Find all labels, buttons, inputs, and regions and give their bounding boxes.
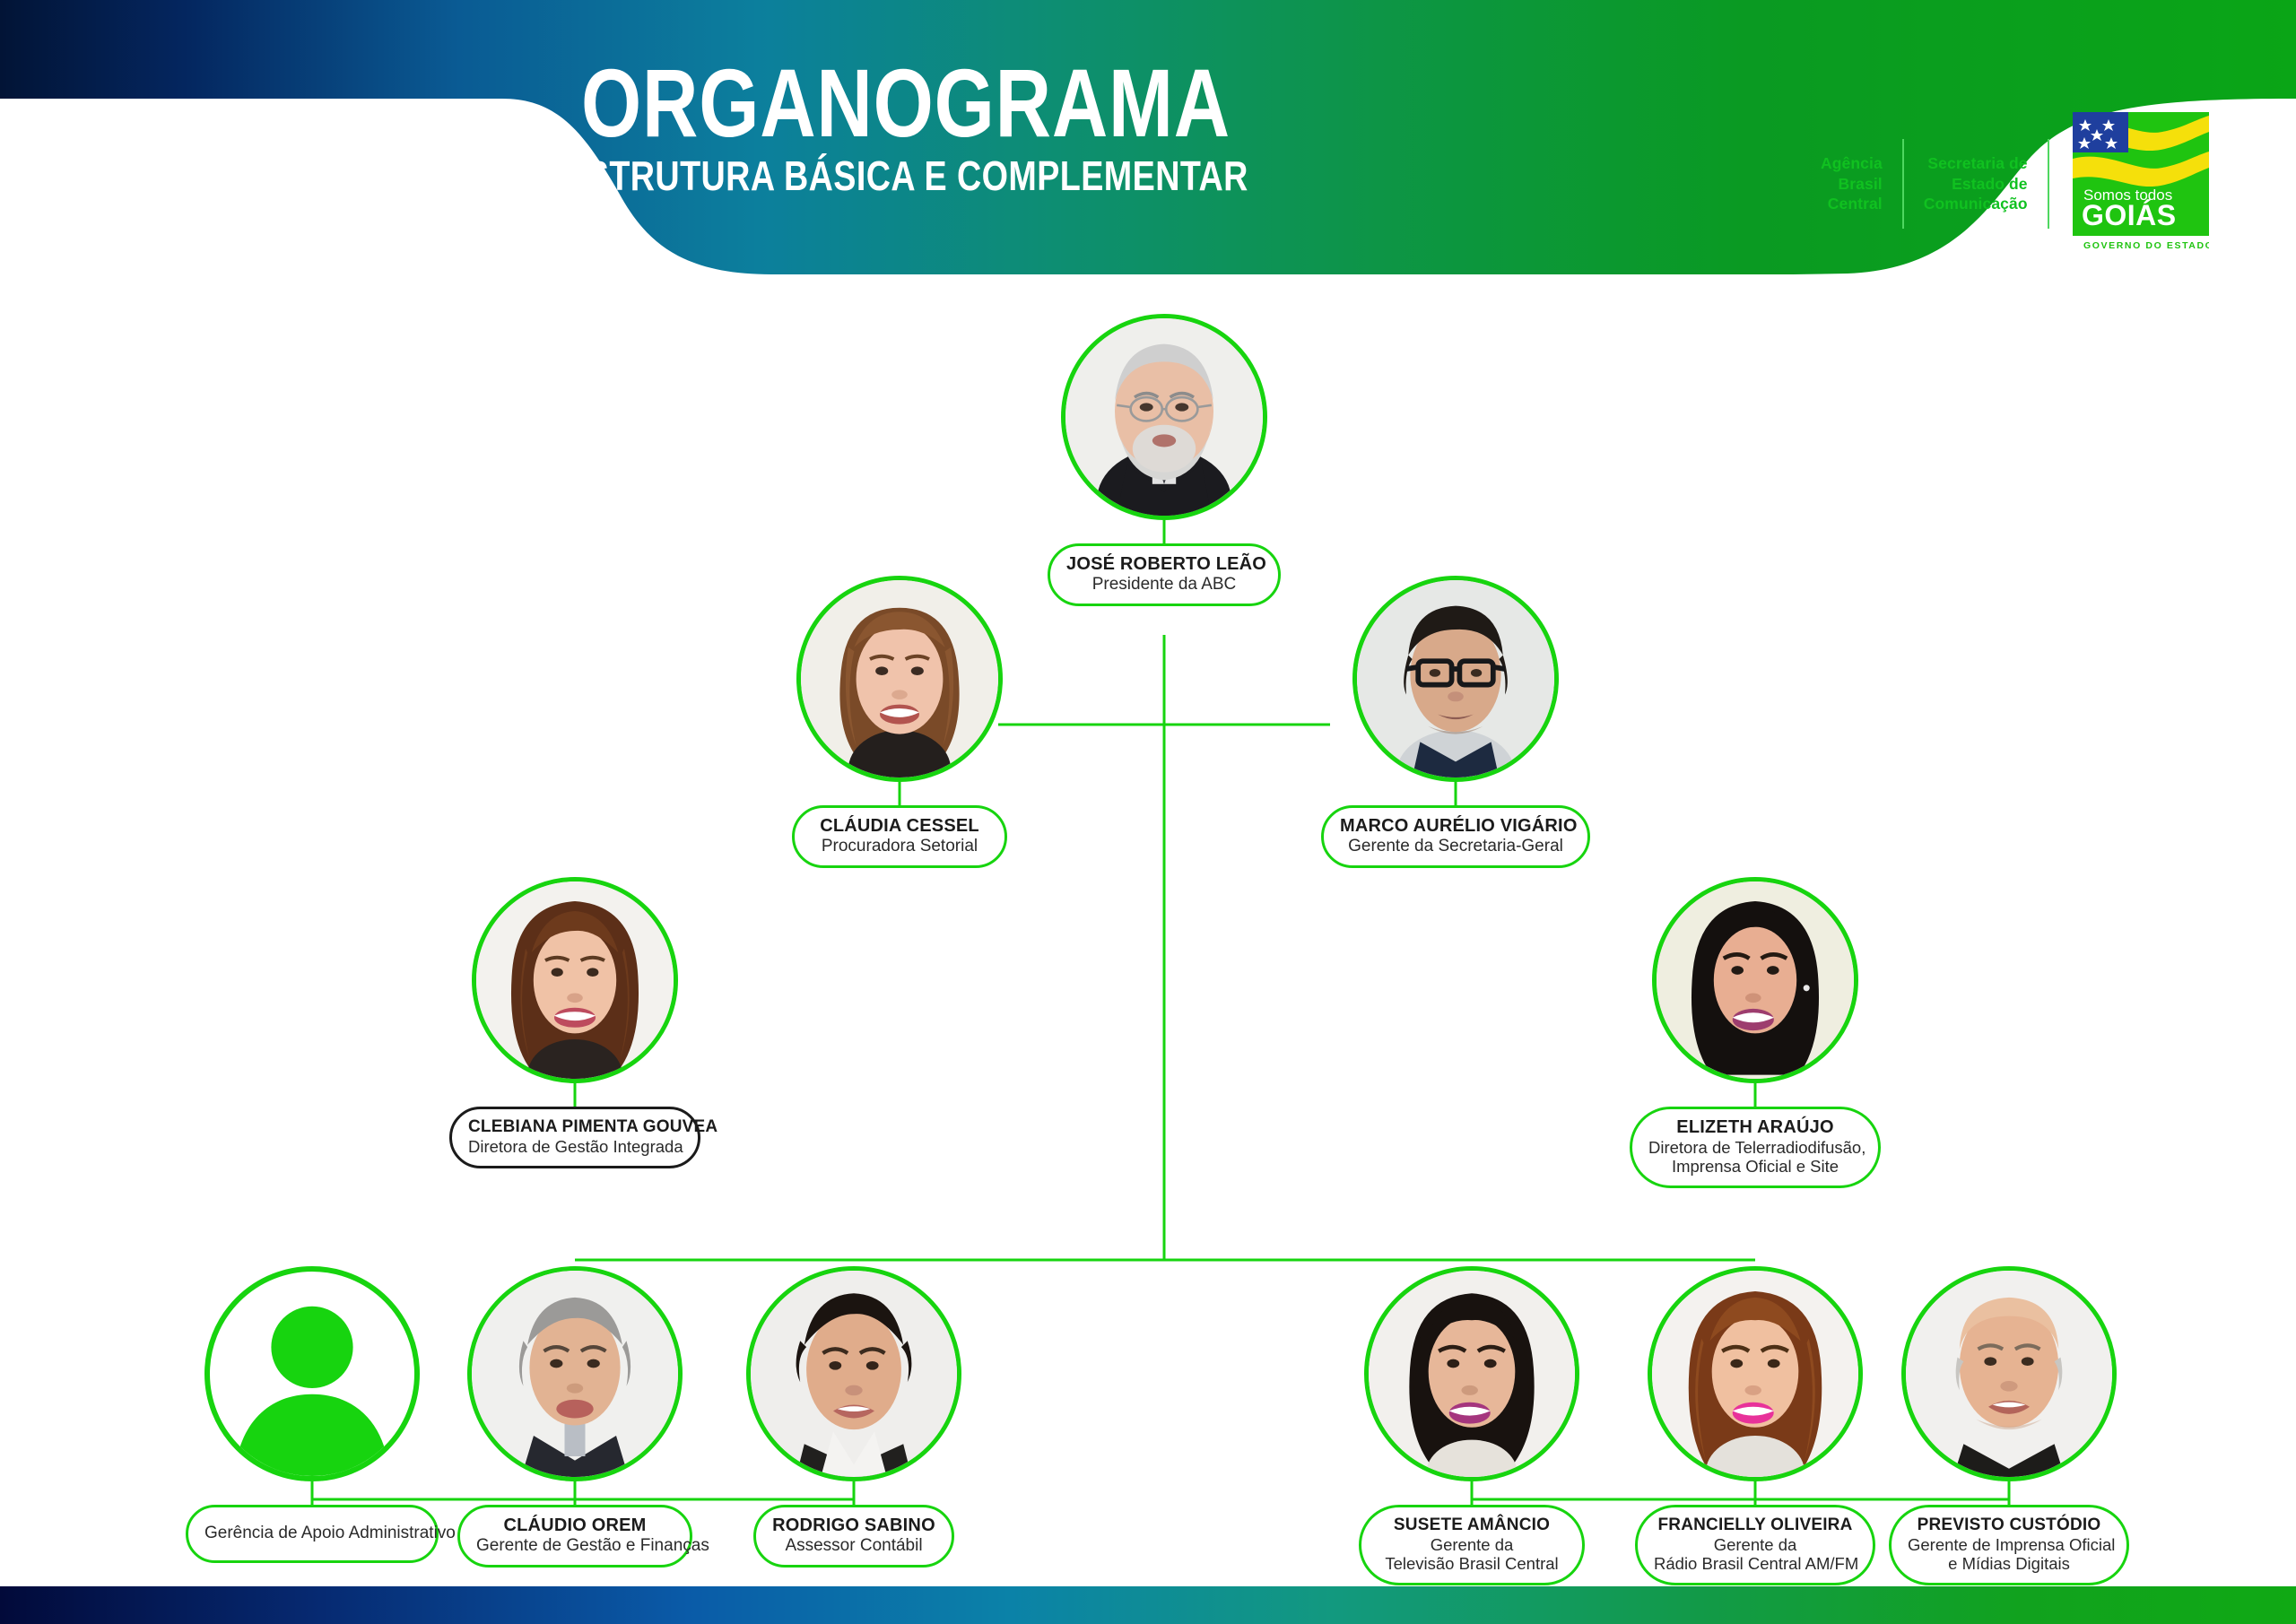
org-node-imprensa-oficial[interactable]: PREVISTO CUSTÓDIO Gerente de Imprensa Of… xyxy=(1901,1266,2117,1585)
org-node-secretaria-geral[interactable]: MARCO AURÉLIO VIGÁRIO Gerente da Secreta… xyxy=(1321,576,1590,868)
org-node-assessor-contabil[interactable]: RODRIGO SABINO Assessor Contábil xyxy=(746,1266,961,1568)
role-apoio-administrativo: Gerência de Apoio Administrativo xyxy=(204,1524,420,1543)
avatar-procuradora xyxy=(796,576,1003,782)
header-logos: Agência Brasil Central Secretaria de Est… xyxy=(1821,121,2209,247)
secretariat-logo-text: Secretaria de Estado de Comunicação xyxy=(1924,153,2028,213)
label-assessor-contabil[interactable]: RODRIGO SABINO Assessor Contábil xyxy=(753,1505,954,1568)
role-procuradora: Procuradora Setorial xyxy=(811,837,988,856)
label-radio-brasil-central[interactable]: FRANCIELLY OLIVEIRA Gerente da Rádio Bra… xyxy=(1635,1505,1875,1585)
agency-line-1: Agência xyxy=(1821,153,1883,173)
name-presidente: JOSÉ ROBERTO LEÃO xyxy=(1066,554,1262,575)
avatar-gestao-financas xyxy=(467,1266,683,1481)
role-imprensa-oficial-line-2: e Mídias Digitais xyxy=(1908,1554,2110,1573)
logo-divider-1 xyxy=(1902,139,1904,229)
stem-telerradiodifusao xyxy=(1754,1083,1757,1107)
org-node-apoio-administrativo[interactable]: Gerência de Apoio Administrativo xyxy=(204,1266,420,1563)
role-radio-brasil-central-line-1: Gerente da xyxy=(1654,1535,1857,1554)
stem-imprensa-oficial xyxy=(2008,1481,2011,1505)
avatar-assessor-contabil xyxy=(746,1266,961,1481)
role-radio-brasil-central-line-2: Rádio Brasil Central AM/FM xyxy=(1654,1554,1857,1573)
stem-assessor-contabil xyxy=(853,1481,856,1505)
agency-line-3: Central xyxy=(1821,194,1883,213)
label-procuradora[interactable]: CLÁUDIA CESSEL Procuradora Setorial xyxy=(792,805,1007,868)
name-gestao-integrada: CLEBIANA PIMENTA GOUVEA xyxy=(468,1117,682,1137)
label-telerradiodifusao[interactable]: ELIZETH ARAÚJO Diretora de Telerradiodif… xyxy=(1630,1107,1881,1188)
role-telerradiodifusao-line-2: Imprensa Oficial e Site xyxy=(1648,1157,1862,1176)
org-node-telerradiodifusao[interactable]: ELIZETH ARAÚJO Diretora de Telerradiodif… xyxy=(1630,877,1881,1188)
role-tv-brasil-central-line-1: Gerente da xyxy=(1378,1535,1566,1554)
label-gestao-financas[interactable]: CLÁUDIO OREM Gerente de Gestão e Finança… xyxy=(457,1505,692,1568)
avatar-tv-brasil-central xyxy=(1364,1266,1579,1481)
avatar-secretaria-geral xyxy=(1352,576,1559,782)
org-chart: JOSÉ ROBERTO LEÃO Presidente da ABC xyxy=(0,296,2296,1587)
state-brand-main: GOIÁS xyxy=(2082,199,2177,231)
stem-radio-brasil-central xyxy=(1754,1481,1757,1505)
avatar-radio-brasil-central xyxy=(1648,1266,1863,1481)
secretariat-line-1: Secretaria de xyxy=(1924,153,2028,173)
agency-logo-text: Agência Brasil Central xyxy=(1821,153,1883,213)
stem-procuradora xyxy=(899,782,901,805)
avatar-imprensa-oficial xyxy=(1901,1266,2117,1481)
state-brand-bottom: GOVERNO DO ESTADO xyxy=(2083,240,2209,251)
agency-line-2: Brasil xyxy=(1821,174,1883,194)
role-secretaria-geral: Gerente da Secretaria-Geral xyxy=(1340,837,1571,856)
label-gestao-integrada[interactable]: CLEBIANA PIMENTA GOUVEA Diretora de Gest… xyxy=(449,1107,700,1168)
avatar-presidente xyxy=(1061,314,1267,520)
secretariat-line-3: Comunicação xyxy=(1924,194,2028,213)
stem-tv-brasil-central xyxy=(1471,1481,1474,1505)
org-node-gestao-financas[interactable]: CLÁUDIO OREM Gerente de Gestão e Finança… xyxy=(467,1266,683,1568)
label-apoio-administrativo[interactable]: Gerência de Apoio Administrativo xyxy=(186,1505,439,1563)
name-procuradora: CLÁUDIA CESSEL xyxy=(811,816,988,837)
stem-presidente xyxy=(1163,520,1166,543)
name-tv-brasil-central: SUSETE AMÂNCIO xyxy=(1378,1515,1566,1535)
label-secretaria-geral[interactable]: MARCO AURÉLIO VIGÁRIO Gerente da Secreta… xyxy=(1321,805,1590,868)
role-gestao-financas: Gerente de Gestão e Finanças xyxy=(476,1536,674,1556)
org-node-procuradora[interactable]: CLÁUDIA CESSEL Procuradora Setorial xyxy=(792,576,1007,868)
name-assessor-contabil: RODRIGO SABINO xyxy=(772,1515,935,1536)
name-secretaria-geral: MARCO AURÉLIO VIGÁRIO xyxy=(1340,816,1571,837)
name-imprensa-oficial: PREVISTO CUSTÓDIO xyxy=(1908,1515,2110,1535)
person-placeholder-icon xyxy=(204,1266,420,1481)
org-node-presidente[interactable]: JOSÉ ROBERTO LEÃO Presidente da ABC xyxy=(1048,314,1281,606)
role-imprensa-oficial-line-1: Gerente de Imprensa Oficial xyxy=(1908,1535,2110,1554)
role-presidente: Presidente da ABC xyxy=(1066,575,1262,595)
role-telerradiodifusao-line-1: Diretora de Telerradiodifusão, xyxy=(1648,1138,1862,1157)
role-tv-brasil-central-line-2: Televisão Brasil Central xyxy=(1378,1554,1566,1573)
secretariat-line-2: Estado de xyxy=(1924,174,2028,194)
label-presidente[interactable]: JOSÉ ROBERTO LEÃO Presidente da ABC xyxy=(1048,543,1281,606)
logo-divider-2 xyxy=(2048,139,2049,229)
org-node-radio-brasil-central[interactable]: FRANCIELLY OLIVEIRA Gerente da Rádio Bra… xyxy=(1648,1266,1863,1585)
name-radio-brasil-central: FRANCIELLY OLIVEIRA xyxy=(1654,1515,1857,1535)
avatar-telerradiodifusao xyxy=(1652,877,1858,1083)
avatar-gestao-integrada xyxy=(472,877,678,1083)
role-gestao-integrada: Diretora de Gestão Integrada xyxy=(468,1137,682,1156)
org-node-tv-brasil-central[interactable]: SUSETE AMÂNCIO Gerente da Televisão Bras… xyxy=(1364,1266,1579,1585)
label-imprensa-oficial[interactable]: PREVISTO CUSTÓDIO Gerente de Imprensa Of… xyxy=(1889,1505,2129,1585)
role-assessor-contabil: Assessor Contábil xyxy=(772,1536,935,1556)
name-telerradiodifusao: ELIZETH ARAÚJO xyxy=(1648,1117,1862,1138)
name-gestao-financas: CLÁUDIO OREM xyxy=(476,1515,674,1536)
stem-gestao-financas xyxy=(574,1481,577,1505)
footer-gradient-band xyxy=(0,1586,2296,1624)
org-node-gestao-integrada[interactable]: CLEBIANA PIMENTA GOUVEA Diretora de Gest… xyxy=(449,877,700,1168)
stem-secretaria-geral xyxy=(1455,782,1457,805)
label-tv-brasil-central[interactable]: SUSETE AMÂNCIO Gerente da Televisão Bras… xyxy=(1359,1505,1585,1585)
organogram-page: ORGANOGRAMA ESTRUTURA BÁSICA E COMPLEMEN… xyxy=(0,0,2296,1624)
goias-state-flag-logo: Somos todos GOIÁS GOVERNO DO ESTADO xyxy=(2073,112,2209,256)
stem-gestao-integrada xyxy=(574,1083,577,1107)
stem-apoio-administrativo xyxy=(311,1481,314,1505)
